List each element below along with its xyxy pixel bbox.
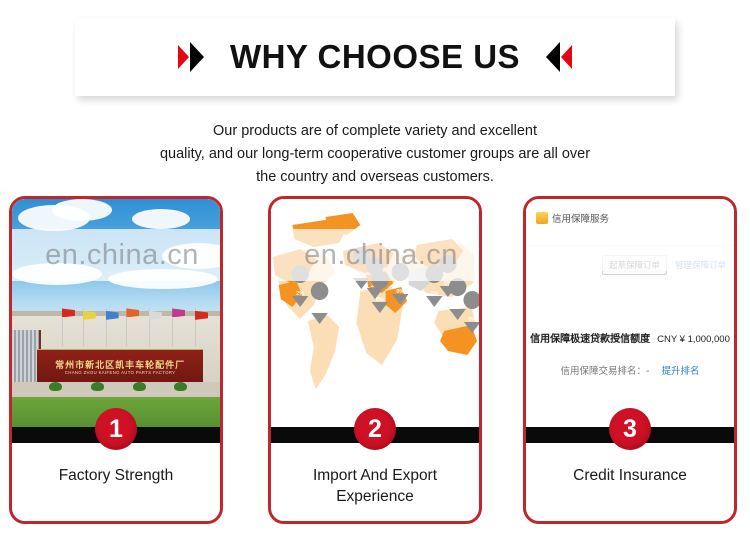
- intro-line-3: the country and overseas customers.: [0, 166, 750, 189]
- card-label: Factory Strength: [59, 465, 174, 486]
- intro-line-2: quality, and our long-term cooperative c…: [0, 143, 750, 166]
- credit-panel-title: 信用保障服务: [552, 211, 609, 225]
- manage-order-link[interactable]: 管理保障订单: [675, 259, 726, 271]
- banner-inner: WHY CHOOSE US: [75, 18, 675, 96]
- card-footer: Factory Strength: [12, 447, 220, 521]
- divider: [526, 245, 734, 246]
- bush: [174, 382, 187, 391]
- card-footer: Import And Export Experience: [271, 447, 479, 521]
- card-number-badge: 2: [354, 408, 396, 450]
- draft-order-button[interactable]: 起草保障订单: [602, 255, 667, 275]
- credit-limit-label: 信用保障极速贷款授信额度: [530, 330, 650, 345]
- map-pin-label: 10%: [452, 304, 463, 310]
- page-title: WHY CHOOSE US: [230, 38, 520, 76]
- red-chevron-right-icon: [178, 45, 189, 69]
- card-media-world-map: 2% 22% 5% 2% 8% 0% 2% 5% 10% 6% en.china…: [271, 199, 479, 437]
- why-choose-us-banner: WHY CHOOSE US: [75, 18, 675, 96]
- factory-signboard: 常州市新北区凯丰车轮配件厂 CHANG ZHOU KAIFENG AUTO PA…: [37, 349, 203, 387]
- intro-line-1: Our products are of complete variety and…: [0, 120, 750, 143]
- cloud-icon: [108, 269, 218, 289]
- card-number-badge: 3: [609, 408, 651, 450]
- factory-sign-chinese: 常州市新北区凯丰车轮配件厂: [55, 360, 185, 370]
- credit-rank-label: 信用保障交易排名：-: [561, 363, 650, 377]
- world-map: 2% 22% 5% 2% 8% 0% 2% 5% 10% 6%: [271, 199, 479, 437]
- left-chevron-group: [178, 42, 204, 72]
- factory-sign-english: CHANG ZHOU KAIFENG AUTO PARTS FACTORY: [65, 370, 176, 376]
- credit-insurance-panel: 信用保障服务 起草保障订单 管理保障订单 信用保障极速贷款授信额度 CNY ¥ …: [526, 199, 734, 437]
- credit-rank-row: 信用保障交易排名：- 提升排名: [534, 363, 726, 377]
- cloud-icon: [132, 209, 190, 229]
- card-footer: Credit Insurance: [526, 447, 734, 521]
- factory-ground: [12, 382, 220, 396]
- map-pin-label: 2%: [430, 291, 438, 297]
- black-chevron-right-icon: [190, 42, 204, 72]
- card-label: Import And Export Experience: [313, 465, 437, 507]
- feature-card-factory-strength[interactable]: 常州市新北区凯丰车轮配件厂 CHANG ZHOU KAIFENG AUTO PA…: [9, 196, 223, 524]
- card-number-badge: 1: [95, 408, 137, 450]
- feature-card-credit-insurance[interactable]: 信用保障服务 起草保障订单 管理保障订单 信用保障极速贷款授信额度 CNY ¥ …: [523, 196, 737, 524]
- right-chevron-group: [546, 42, 572, 72]
- bush: [49, 382, 62, 391]
- red-chevron-left-icon: [561, 45, 572, 69]
- credit-limit-value: CNY ¥ 1,000,000: [657, 334, 730, 345]
- card-label: Credit Insurance: [573, 465, 687, 486]
- credit-action-buttons: 起草保障订单 管理保障订单: [602, 255, 726, 275]
- cloud-icon: [12, 263, 102, 285]
- factory-photo: 常州市新北区凯丰车轮配件厂 CHANG ZHOU KAIFENG AUTO PA…: [12, 199, 220, 437]
- shield-badge-icon: [536, 212, 548, 224]
- card-label-line-1: Import And Export: [313, 467, 437, 484]
- map-pin-label: 5%: [357, 273, 365, 279]
- credit-panel-header: 信用保障服务: [536, 211, 609, 225]
- card-label-line-2: Experience: [336, 488, 414, 505]
- map-pin-label: 2%: [296, 291, 304, 297]
- map-pin-label: 6%: [468, 317, 476, 323]
- bush: [133, 382, 146, 391]
- feature-card-list: 常州市新北区凯丰车轮配件厂 CHANG ZHOU KAIFENG AUTO PA…: [0, 196, 750, 526]
- map-pin-label: 22%: [314, 308, 325, 314]
- world-map-svg: 2% 22% 5% 2% 8% 0% 2% 5% 10% 6%: [271, 199, 479, 437]
- black-chevron-left-icon: [546, 42, 560, 72]
- card-media-credit-panel: 信用保障服务 起草保障订单 管理保障订单 信用保障极速贷款授信额度 CNY ¥ …: [526, 199, 734, 437]
- bush: [91, 382, 104, 391]
- map-pin-label: 0%: [396, 289, 404, 295]
- feature-card-import-export[interactable]: 2% 22% 5% 2% 8% 0% 2% 5% 10% 6% en.china…: [268, 196, 482, 524]
- card-media-factory-photo: 常州市新北区凯丰车轮配件厂 CHANG ZHOU KAIFENG AUTO PA…: [12, 199, 220, 437]
- map-pin-label: 8%: [376, 297, 384, 303]
- improve-rank-link[interactable]: 提升排名: [661, 363, 699, 377]
- cloud-icon: [52, 199, 112, 221]
- credit-limit-row: 信用保障极速贷款授信额度 CNY ¥ 1,000,000: [534, 330, 726, 345]
- intro-paragraph: Our products are of complete variety and…: [0, 120, 750, 189]
